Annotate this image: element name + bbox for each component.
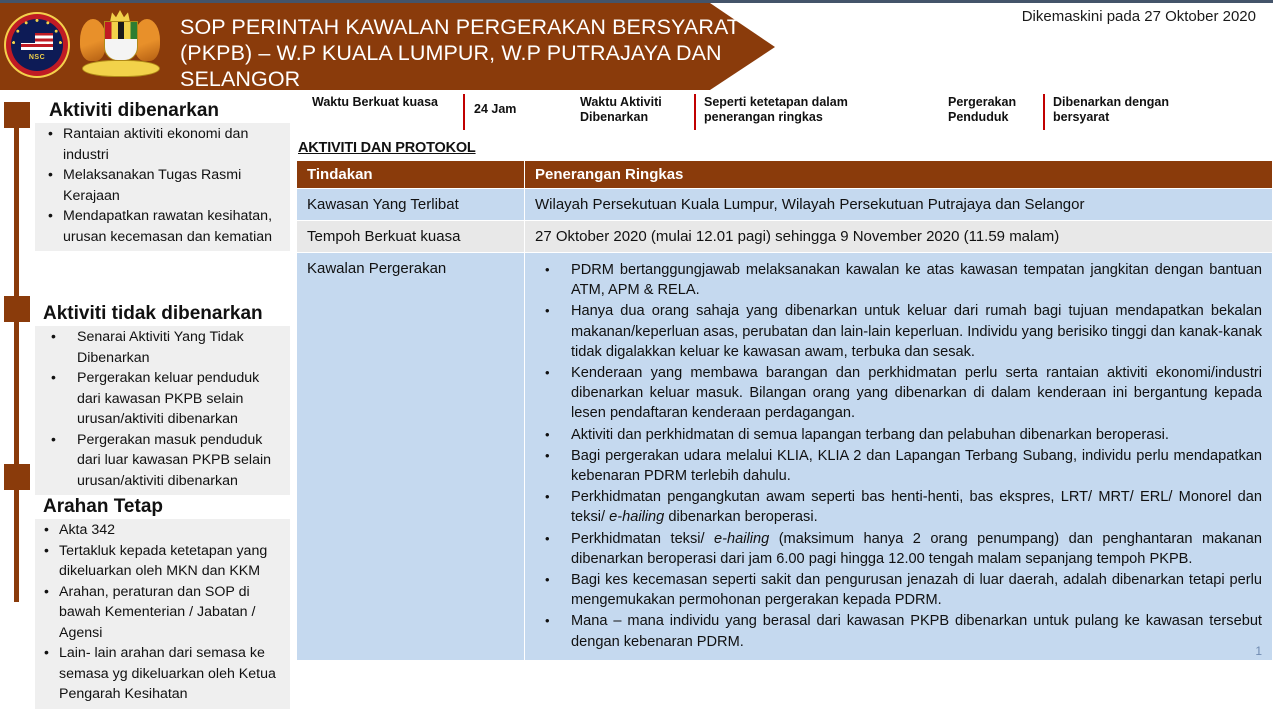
sidebar-node-3 (4, 464, 30, 490)
sidebar-section-allowed: Aktiviti dibenarkan Rantaian aktiviti ek… (35, 100, 290, 251)
sidebar-list-standing-orders: Akta 342 Tertakluk kepada ketetapan yang… (39, 520, 286, 705)
list-item: Akta 342 (39, 520, 286, 541)
mkn-emblem-nsc-label: NSC (4, 54, 70, 61)
list-item: Mana – mana individu yang berasal dari k… (535, 611, 1262, 651)
column-header-description: Penerangan Ringkas (525, 161, 1273, 189)
summary-value-1: Seperti ketetapan dalam penerangan ringk… (704, 95, 919, 125)
list-item: Bagi pergerakan udara melalui KLIA, KLIA… (535, 446, 1262, 486)
sidebar-list-not-allowed: Senarai Aktiviti Yang Tidak Dibenarkan P… (39, 327, 286, 491)
row-value: 27 Oktober 2020 (mulai 12.01 pagi) sehin… (525, 221, 1273, 253)
list-item: Pergerakan masuk penduduk dari luar kawa… (39, 430, 286, 492)
top-rule (0, 0, 1273, 3)
row-label: Kawalan Pergerakan (297, 253, 525, 661)
summary-divider-2 (1043, 94, 1045, 130)
last-updated-label: Dikemaskini pada 27 Oktober 2020 (1022, 8, 1256, 25)
list-item: Arahan, peraturan dan SOP di bawah Kemen… (39, 582, 286, 644)
summary-strip: Waktu Berkuat kuasa 24 Jam Waktu Aktivit… (298, 92, 1263, 132)
sidebar-heading-not-allowed: Aktiviti tidak dibenarkan (35, 303, 290, 325)
main-content: AKTIVITI DAN PROTOKOL Tindakan Peneranga… (296, 140, 1273, 661)
table-row: Kawasan Yang Terlibat Wilayah Persekutua… (297, 189, 1273, 221)
table-row: Kawalan Pergerakan PDRM bertanggungjawab… (297, 253, 1273, 661)
movement-bullet-list: PDRM bertanggungjawab melaksanakan kawal… (535, 260, 1262, 652)
sidebar-node-2 (4, 296, 30, 322)
list-item: Hanya dua orang sahaja yang dibenarkan u… (535, 301, 1262, 362)
list-item: Senarai Aktiviti Yang Tidak Dibenarkan (39, 327, 286, 368)
list-item: Bagi kes kecemasan seperti sakit dan pen… (535, 570, 1262, 610)
row-value: Wilayah Persekutuan Kuala Lumpur, Wilaya… (525, 189, 1273, 221)
summary-label-0: Waktu Berkuat kuasa (312, 95, 462, 110)
sidebar-section-standing-orders: Arahan Tetap Akta 342 Tertakluk kepada k… (35, 496, 290, 709)
row-label: Tempoh Berkuat kuasa (297, 221, 525, 253)
summary-value-2: Dibenarkan dengan bersyarat (1053, 95, 1213, 125)
sidebar-node-1 (4, 102, 30, 128)
summary-value-0: 24 Jam (474, 102, 574, 117)
list-item: Tertakluk kepada ketetapan yang dikeluar… (39, 541, 286, 582)
header-banner: NSC SOP PERINTAH KAWALAN PERGERAKAN BERS… (0, 3, 775, 90)
table-row: Tempoh Berkuat kuasa 27 Oktober 2020 (mu… (297, 221, 1273, 253)
summary-label-2: Pergerakan Penduduk (948, 95, 1048, 125)
sop-table: Tindakan Penerangan Ringkas Kawasan Yang… (296, 160, 1273, 661)
sidebar: Aktiviti dibenarkan Rantaian aktiviti ek… (0, 100, 290, 706)
sidebar-rail (14, 102, 19, 602)
row-label: Kawasan Yang Terlibat (297, 189, 525, 221)
sidebar-heading-standing-orders: Arahan Tetap (35, 496, 290, 518)
page-title: SOP PERINTAH KAWALAN PERGERAKAN BERSYARA… (172, 3, 740, 92)
crest-group: NSC (0, 3, 172, 81)
list-item: Perkhidmatan teksi/ e-hailing (maksimum … (535, 529, 1262, 569)
sidebar-section-not-allowed: Aktiviti tidak dibenarkan Senarai Aktivi… (35, 303, 290, 495)
list-item: Mendapatkan rawatan kesihatan, urusan ke… (39, 206, 286, 247)
mkn-emblem-icon: NSC (4, 12, 70, 78)
list-item: Kenderaan yang membawa barangan dan perk… (535, 363, 1262, 424)
list-item: PDRM bertanggungjawab melaksanakan kawal… (535, 260, 1262, 300)
column-header-action: Tindakan (297, 161, 525, 189)
sidebar-list-allowed: Rantaian aktiviti ekonomi dan industri M… (39, 124, 286, 247)
list-item: Lain- lain arahan dari semasa ke semasa … (39, 643, 286, 705)
list-item: Aktiviti dan perkhidmatan di semua lapan… (535, 425, 1262, 445)
summary-divider-1 (694, 94, 696, 130)
table-header-row: Tindakan Penerangan Ringkas (297, 161, 1273, 189)
page-number: 1 (1255, 644, 1262, 658)
summary-divider-0 (463, 94, 465, 130)
section-title: AKTIVITI DAN PROTOKOL (298, 140, 1273, 156)
row-value-bullets: PDRM bertanggungjawab melaksanakan kawal… (525, 253, 1273, 661)
sidebar-heading-allowed: Aktiviti dibenarkan (35, 100, 290, 122)
list-item: Rantaian aktiviti ekonomi dan industri (39, 124, 286, 165)
list-item: Perkhidmatan pengangkutan awam seperti b… (535, 487, 1262, 527)
list-item: Pergerakan keluar penduduk dari kawasan … (39, 368, 286, 430)
list-item: Melaksanakan Tugas Rasmi Kerajaan (39, 165, 286, 206)
malaysia-coat-of-arms-icon (74, 9, 166, 81)
summary-label-1: Waktu Aktiviti Dibenarkan (580, 95, 690, 125)
